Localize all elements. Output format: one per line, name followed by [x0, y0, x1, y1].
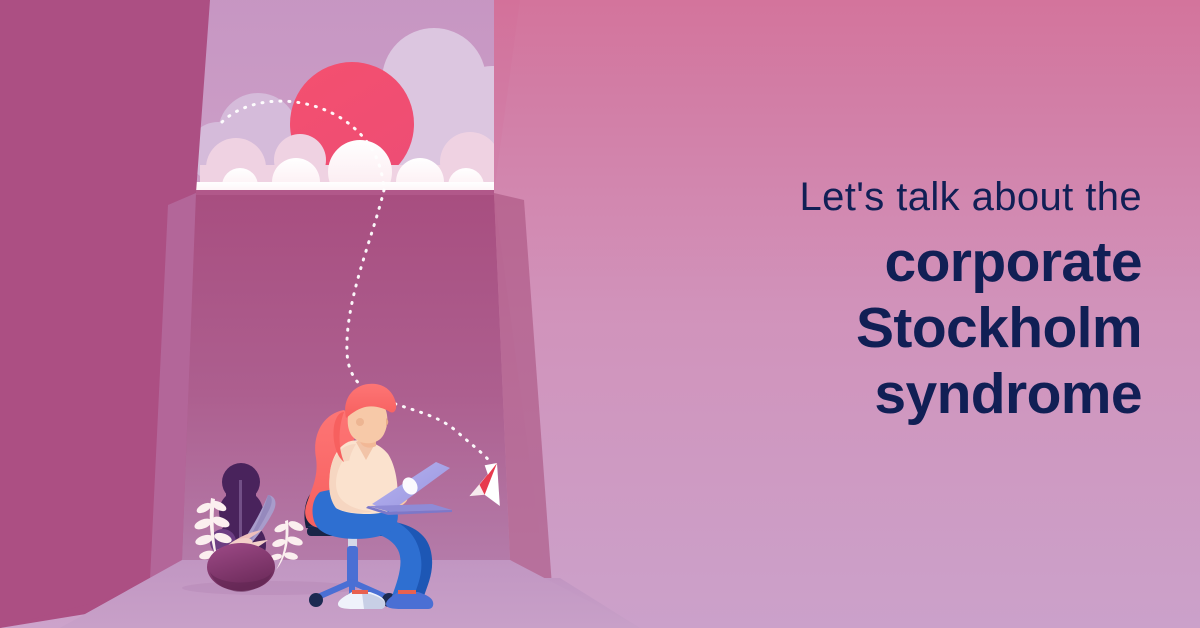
headline-emphasis-line-3: syndrome	[602, 361, 1142, 427]
headline-emphasis-line-2: Stockholm	[602, 295, 1142, 361]
headline-intro-line: Let's talk about the	[602, 176, 1142, 219]
headline-block: Let's talk about the corporate Stockholm…	[602, 176, 1142, 428]
ear	[356, 418, 364, 426]
chair-cylinder-lower	[347, 546, 358, 584]
sky-group	[150, 0, 550, 210]
box-rim	[196, 190, 494, 195]
social-banner: Let's talk about the corporate Stockholm…	[0, 0, 1200, 628]
headline-emphasis-line-1: corporate	[602, 229, 1142, 295]
